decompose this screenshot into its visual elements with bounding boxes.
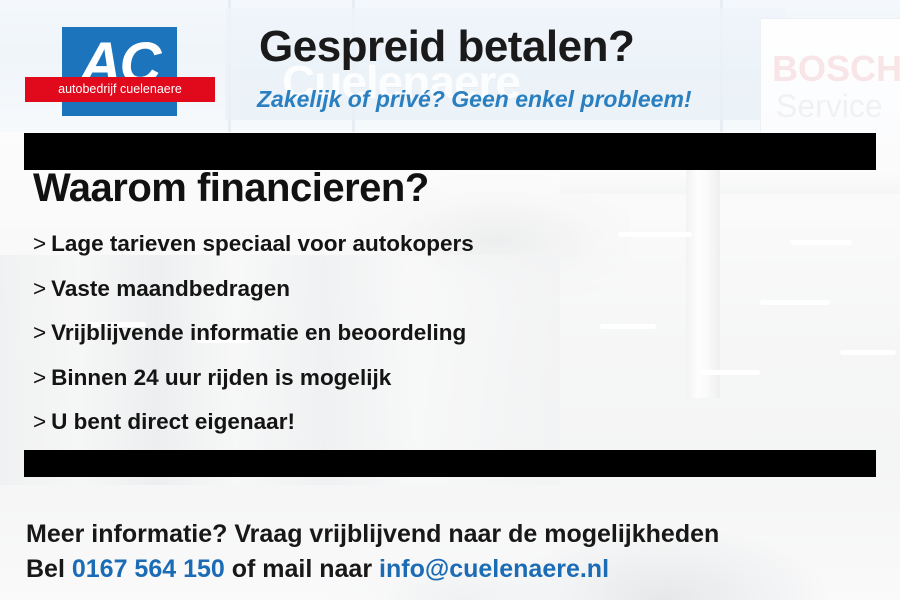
banner-subheadline: Zakelijk of privé? Geen enkel probleem!: [257, 85, 692, 113]
bullet-marker-icon: >: [33, 320, 46, 345]
email-address-link[interactable]: info@cuelenaere.nl: [379, 555, 609, 583]
footer-call-label: Bel: [26, 555, 65, 583]
list-item-label: Lage tarieven speciaal voor autokopers: [51, 231, 474, 256]
footer-info-line: Meer informatie? Vraag vrijblijvend naar…: [26, 519, 719, 549]
banner-headline: Gespreid betalen?: [259, 20, 634, 74]
list-item-label: Vaste maandbedragen: [51, 276, 290, 301]
section-title: Waarom financieren?: [33, 163, 429, 213]
footer-mail-label: of mail naar: [232, 555, 372, 583]
list-item-label: Binnen 24 uur rijden is mogelijk: [51, 365, 391, 390]
bullet-marker-icon: >: [33, 276, 46, 301]
list-item: >U bent direct eigenaar!: [33, 400, 653, 445]
list-item-label: Vrijblijvende informatie en beoordeling: [51, 320, 466, 345]
logo-tagline-text: autobedrijf cuelenaere: [25, 77, 215, 102]
divider-bottom: [24, 450, 876, 477]
bullet-marker-icon: >: [33, 231, 46, 256]
logo-tagline-strip: autobedrijf cuelenaere: [25, 77, 215, 102]
benefits-list: >Lage tarieven speciaal voor autokopers …: [33, 222, 653, 445]
list-item: >Lage tarieven speciaal voor autokopers: [33, 222, 653, 267]
company-logo: AC: [62, 27, 177, 116]
list-item: >Vaste maandbedragen: [33, 267, 653, 312]
bullet-marker-icon: >: [33, 365, 46, 390]
list-item: >Binnen 24 uur rijden is mogelijk: [33, 356, 653, 401]
footer-contact-line: Bel 0167 564 150 of mail naar info@cuele…: [26, 554, 609, 584]
finance-promo-banner: Cuelenaere BOSCH Service AC autobedrijf …: [0, 0, 900, 600]
list-item-label: U bent direct eigenaar!: [51, 409, 295, 434]
list-item: >Vrijblijvende informatie en beoordeling: [33, 311, 653, 356]
phone-number-link[interactable]: 0167 564 150: [72, 555, 225, 583]
bullet-marker-icon: >: [33, 409, 46, 434]
